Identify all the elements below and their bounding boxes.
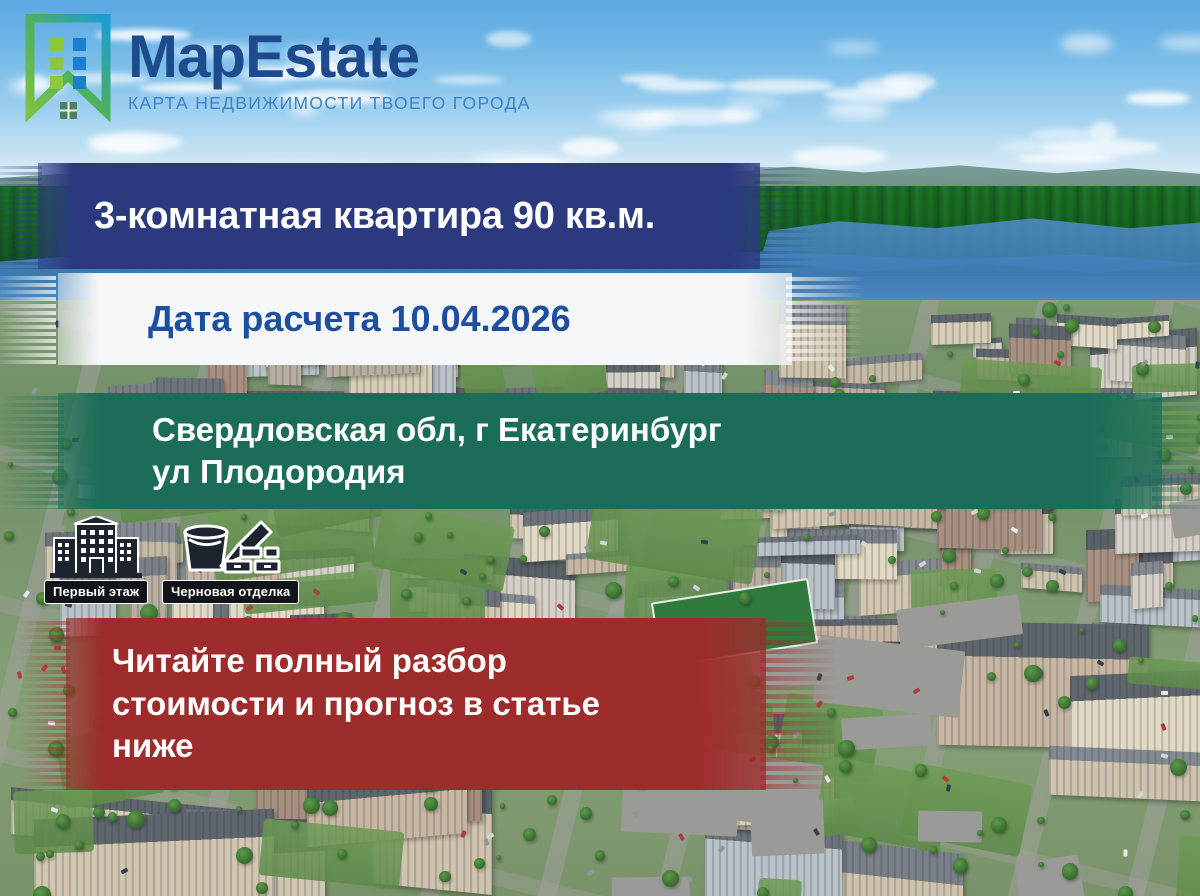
banner-date-text: Дата расчета 10.04.2026 bbox=[58, 298, 792, 340]
banner-rooms: 3-комнатная квартира 90 кв.м. bbox=[38, 163, 760, 269]
apartment-building-icon bbox=[50, 516, 142, 578]
badge-first-floor: Первый этаж bbox=[44, 516, 148, 604]
paint-bucket-trowel-icon bbox=[179, 516, 283, 578]
address-line-region-city: Свердловская обл, г Екатеринбург bbox=[152, 409, 1162, 451]
brand-tagline: КАРТА НЕДВИЖИМОСТИ ТВОЕГО ГОРОДА bbox=[128, 93, 531, 114]
badge-rough-finish: Черновая отделка bbox=[162, 516, 299, 604]
bookmark-building-icon bbox=[22, 14, 114, 126]
brand-logo[interactable]: MapEstate КАРТА НЕДВИЖИМОСТИ ТВОЕГО ГОРО… bbox=[22, 14, 531, 126]
feature-badges: Первый этаж bbox=[44, 516, 299, 604]
badge-first-floor-label: Первый этаж bbox=[44, 580, 148, 604]
cta-line-2: стоимости и прогноз в статье bbox=[112, 683, 742, 726]
brand-name: MapEstate bbox=[128, 27, 531, 87]
address-line-street: ул Плодородия bbox=[152, 451, 1162, 493]
banner-calculation-date: Дата расчета 10.04.2026 bbox=[58, 273, 792, 365]
cta-line-3: ниже bbox=[112, 725, 742, 768]
banner-rooms-text: 3-комнатная квартира 90 кв.м. bbox=[38, 195, 760, 238]
banner-address-text: Свердловская обл, г Екатеринбург ул Плод… bbox=[58, 409, 1162, 492]
listing-poster: MapEstate КАРТА НЕДВИЖИМОСТИ ТВОЕГО ГОРО… bbox=[0, 0, 1200, 896]
cta-line-1: Читайте полный разбор bbox=[112, 640, 742, 683]
banner-address: Свердловская обл, г Екатеринбург ул Плод… bbox=[58, 393, 1162, 509]
banner-cta: Читайте полный разбор стоимости и прогно… bbox=[66, 618, 766, 790]
brand-wordmark: MapEstate КАРТА НЕДВИЖИМОСТИ ТВОЕГО ГОРО… bbox=[128, 27, 531, 114]
banner-cta-text: Читайте полный разбор стоимости и прогно… bbox=[66, 640, 766, 769]
badge-rough-finish-label: Черновая отделка bbox=[162, 580, 299, 604]
